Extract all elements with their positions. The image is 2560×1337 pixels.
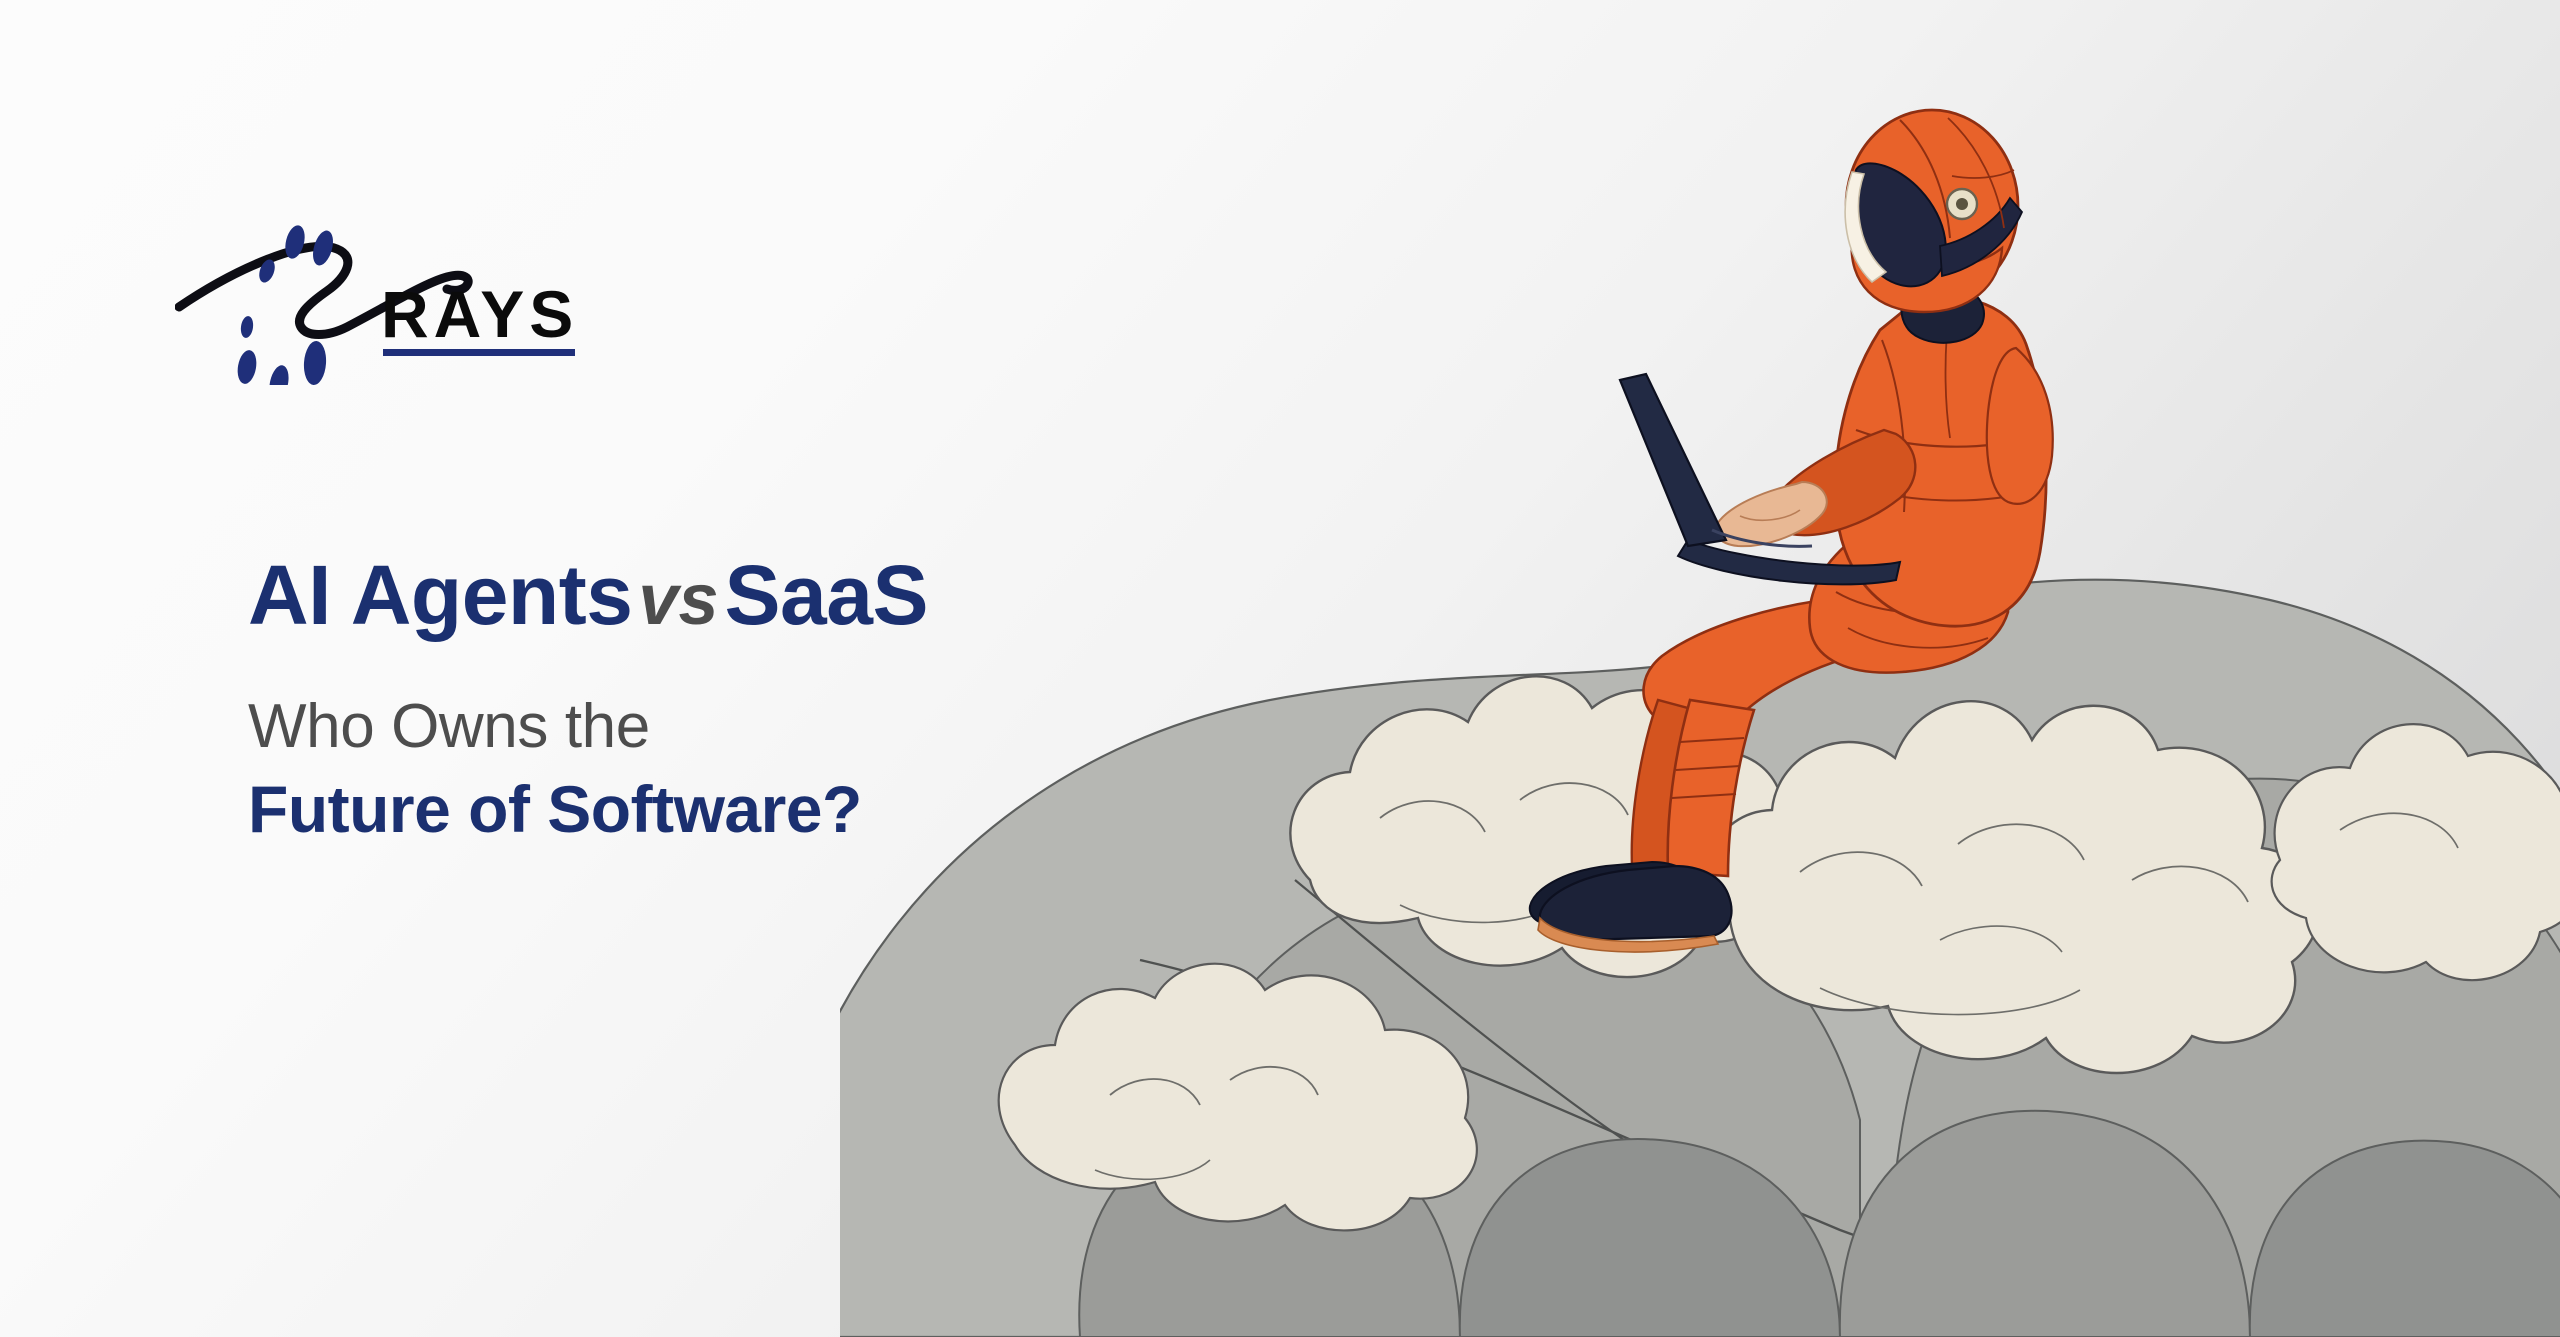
droplet-icon [235, 349, 259, 385]
droplet-icon [302, 340, 327, 385]
laptop-screen [1620, 374, 1726, 546]
visor-pivot-center [1956, 198, 1968, 210]
rays-wordmark: RAYS [381, 277, 578, 356]
headline-part1: AI Agents [248, 548, 632, 642]
rays-underline [383, 349, 575, 356]
astronaut-cloud-illustration [840, 0, 2560, 1337]
headline-connector: vs [632, 560, 724, 640]
rays-wordmark-text: RAYS [381, 277, 578, 351]
astronaut-shoulder [1987, 348, 2053, 504]
hero-banner: RAYS AI AgentsvsSaaS Who Owns the Future… [0, 0, 2560, 1337]
droplet-icon [266, 364, 291, 385]
droplet-icon [240, 315, 255, 338]
rays-logo[interactable]: RAYS [175, 195, 615, 385]
